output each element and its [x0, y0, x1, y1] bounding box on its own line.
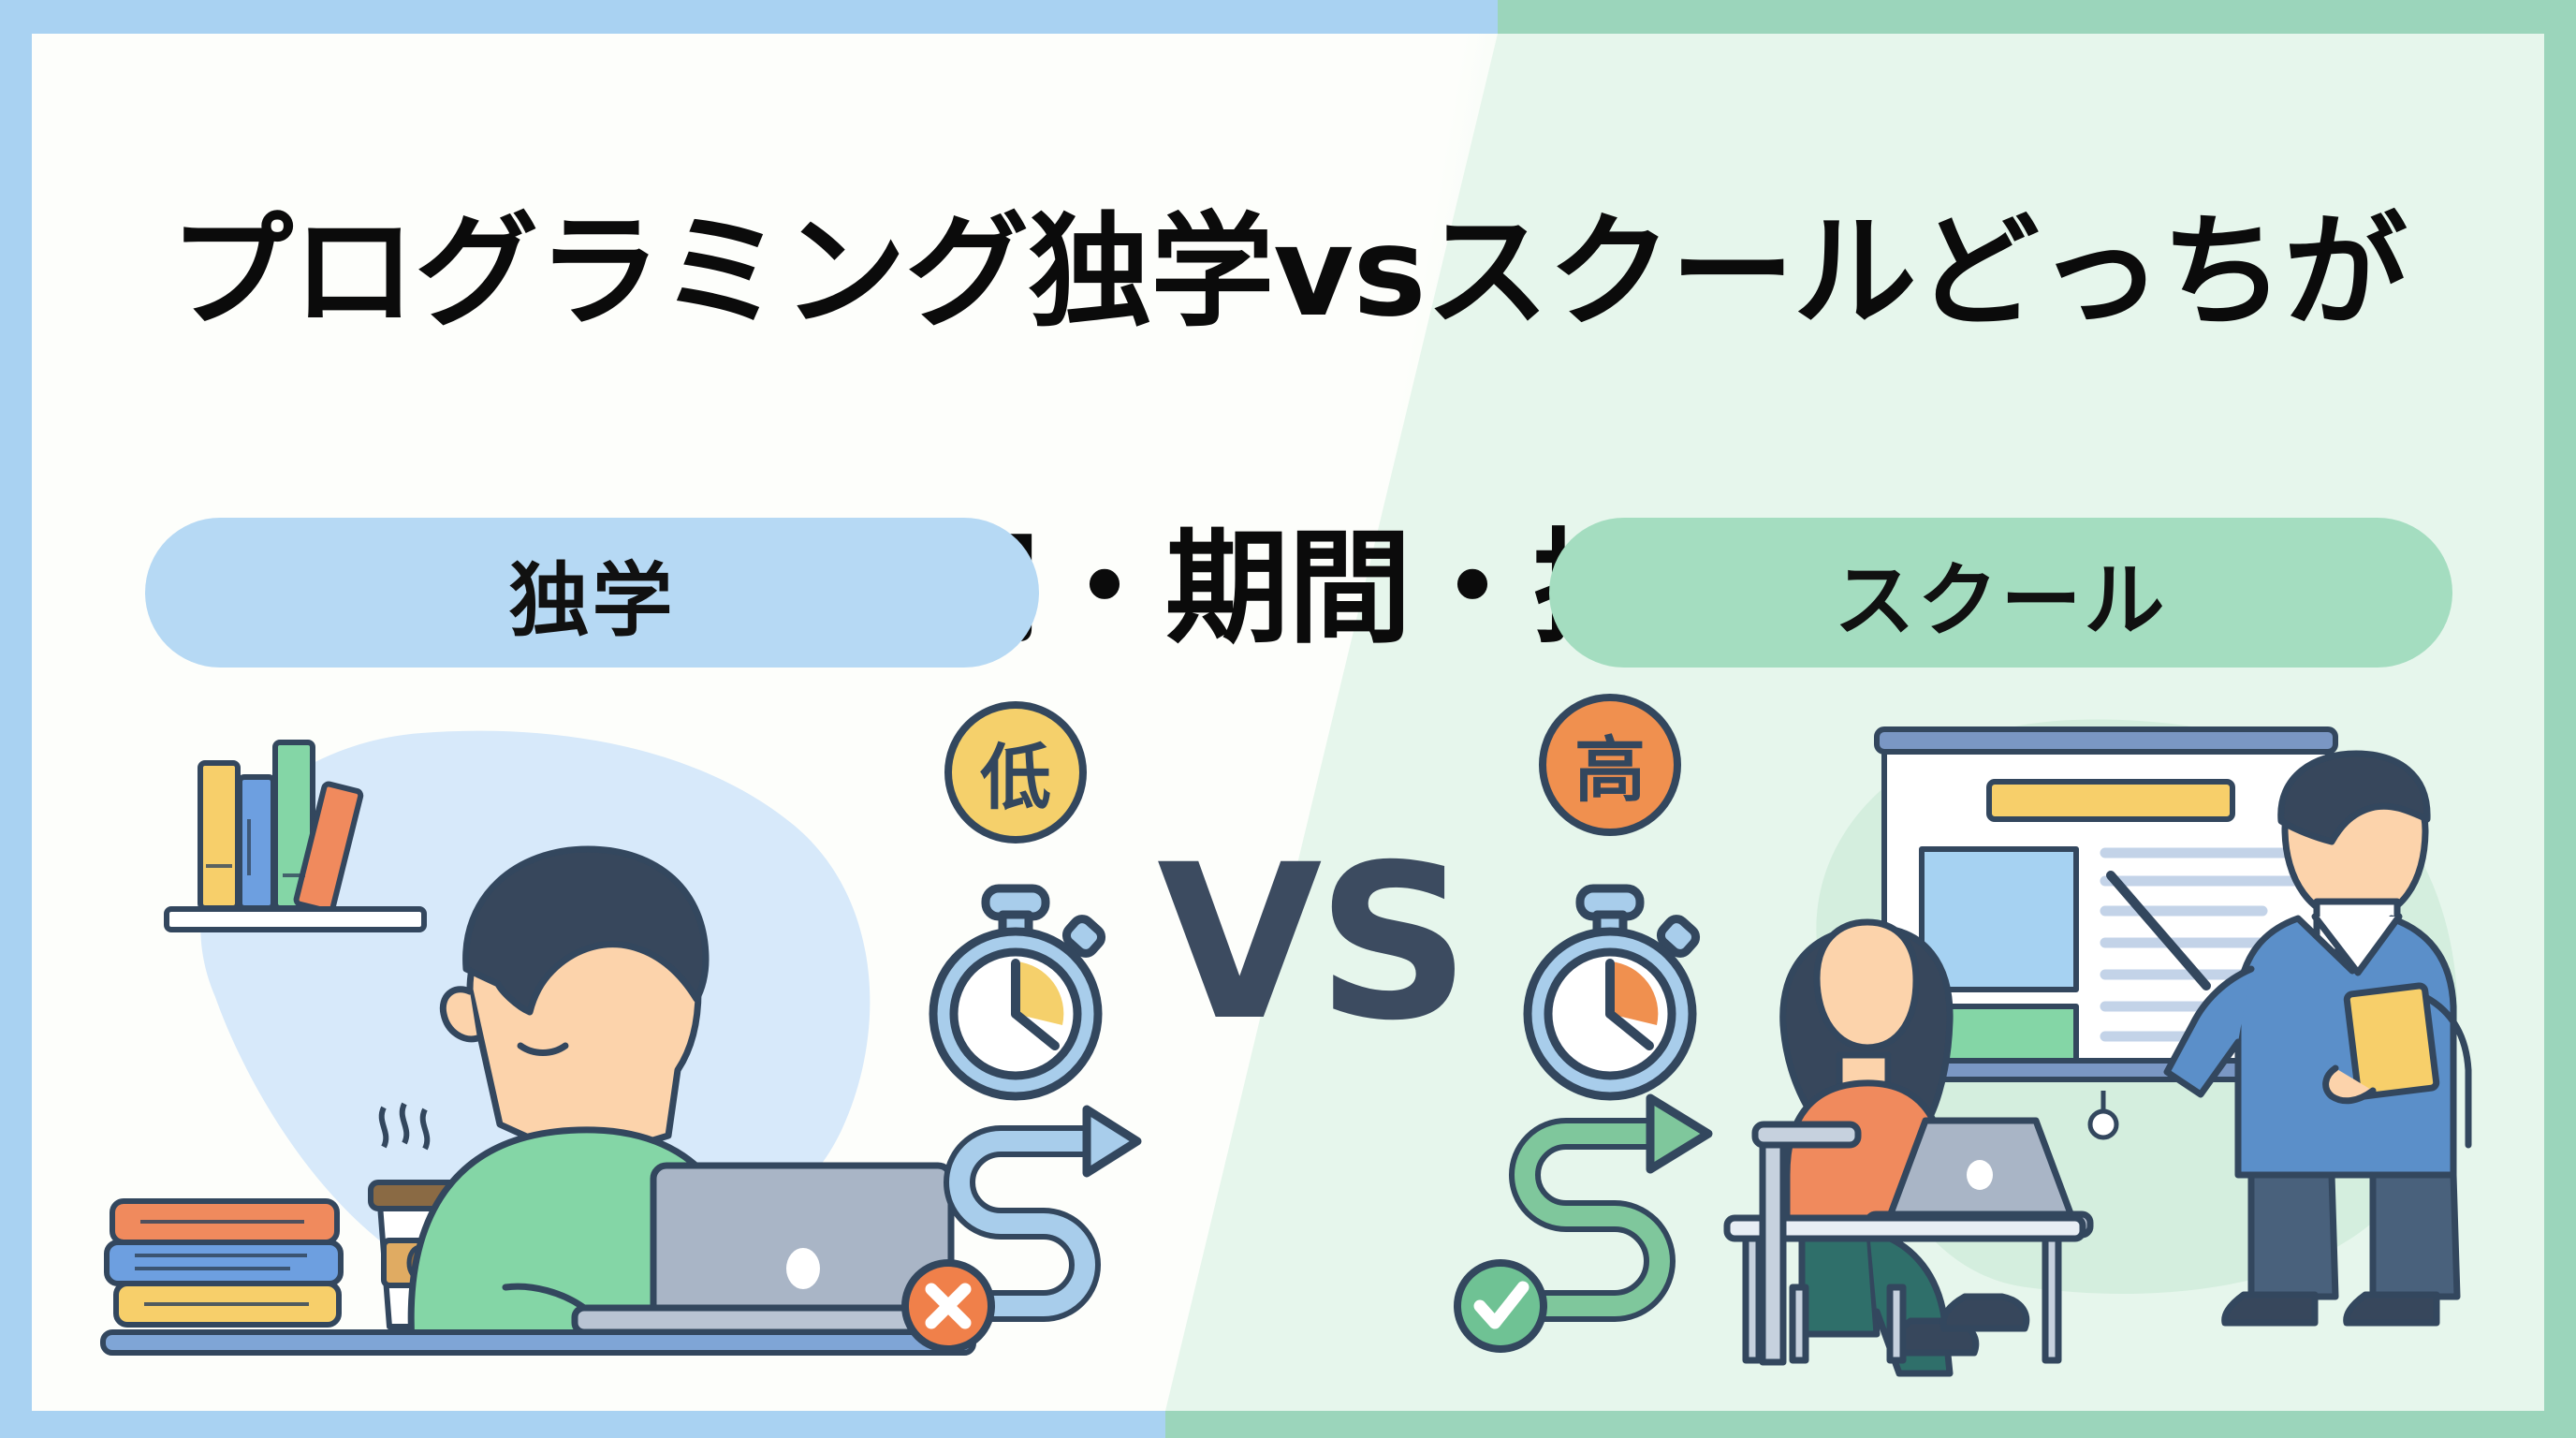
desk-surface [103, 1332, 973, 1353]
failure-badge-icon [905, 1263, 991, 1349]
illustration-self-study [103, 688, 973, 1343]
metrics-self-study: 低 [903, 697, 1147, 1334]
cost-badge-low: 低 [948, 705, 1083, 840]
stopwatch-icon [1528, 888, 1700, 1096]
title-line-1: プログラミング独学vsスクールどっちが [169, 200, 2407, 345]
winding-path-icon [959, 1109, 1137, 1306]
frame-top-green [1498, 0, 2576, 34]
vs-label: VS [1157, 836, 1465, 1049]
illustration-school [1727, 688, 2551, 1343]
success-badge-icon [1457, 1263, 1544, 1349]
badge-school: スクール [1549, 518, 2452, 668]
badge-self-study: 独学 [145, 518, 1039, 668]
frame-top-blue [0, 0, 1498, 34]
metrics-school: 高 [1456, 697, 1736, 1334]
thumbnail-canvas: プログラミング独学vsスクールどっちが いい？｜費用・期間・挫折率まとめ 独学 … [0, 0, 2576, 1438]
cost-badge-high-label: 高 [1574, 728, 1646, 812]
book-stack-icon [107, 1201, 341, 1325]
badge-school-label: スクール [1835, 535, 2168, 652]
cost-badge-low-label: 低 [980, 736, 1051, 819]
badge-self-study-label: 独学 [509, 535, 676, 652]
stopwatch-icon [933, 888, 1105, 1096]
winding-path-icon [1521, 1098, 1708, 1306]
cost-badge-high: 高 [1543, 697, 1677, 832]
